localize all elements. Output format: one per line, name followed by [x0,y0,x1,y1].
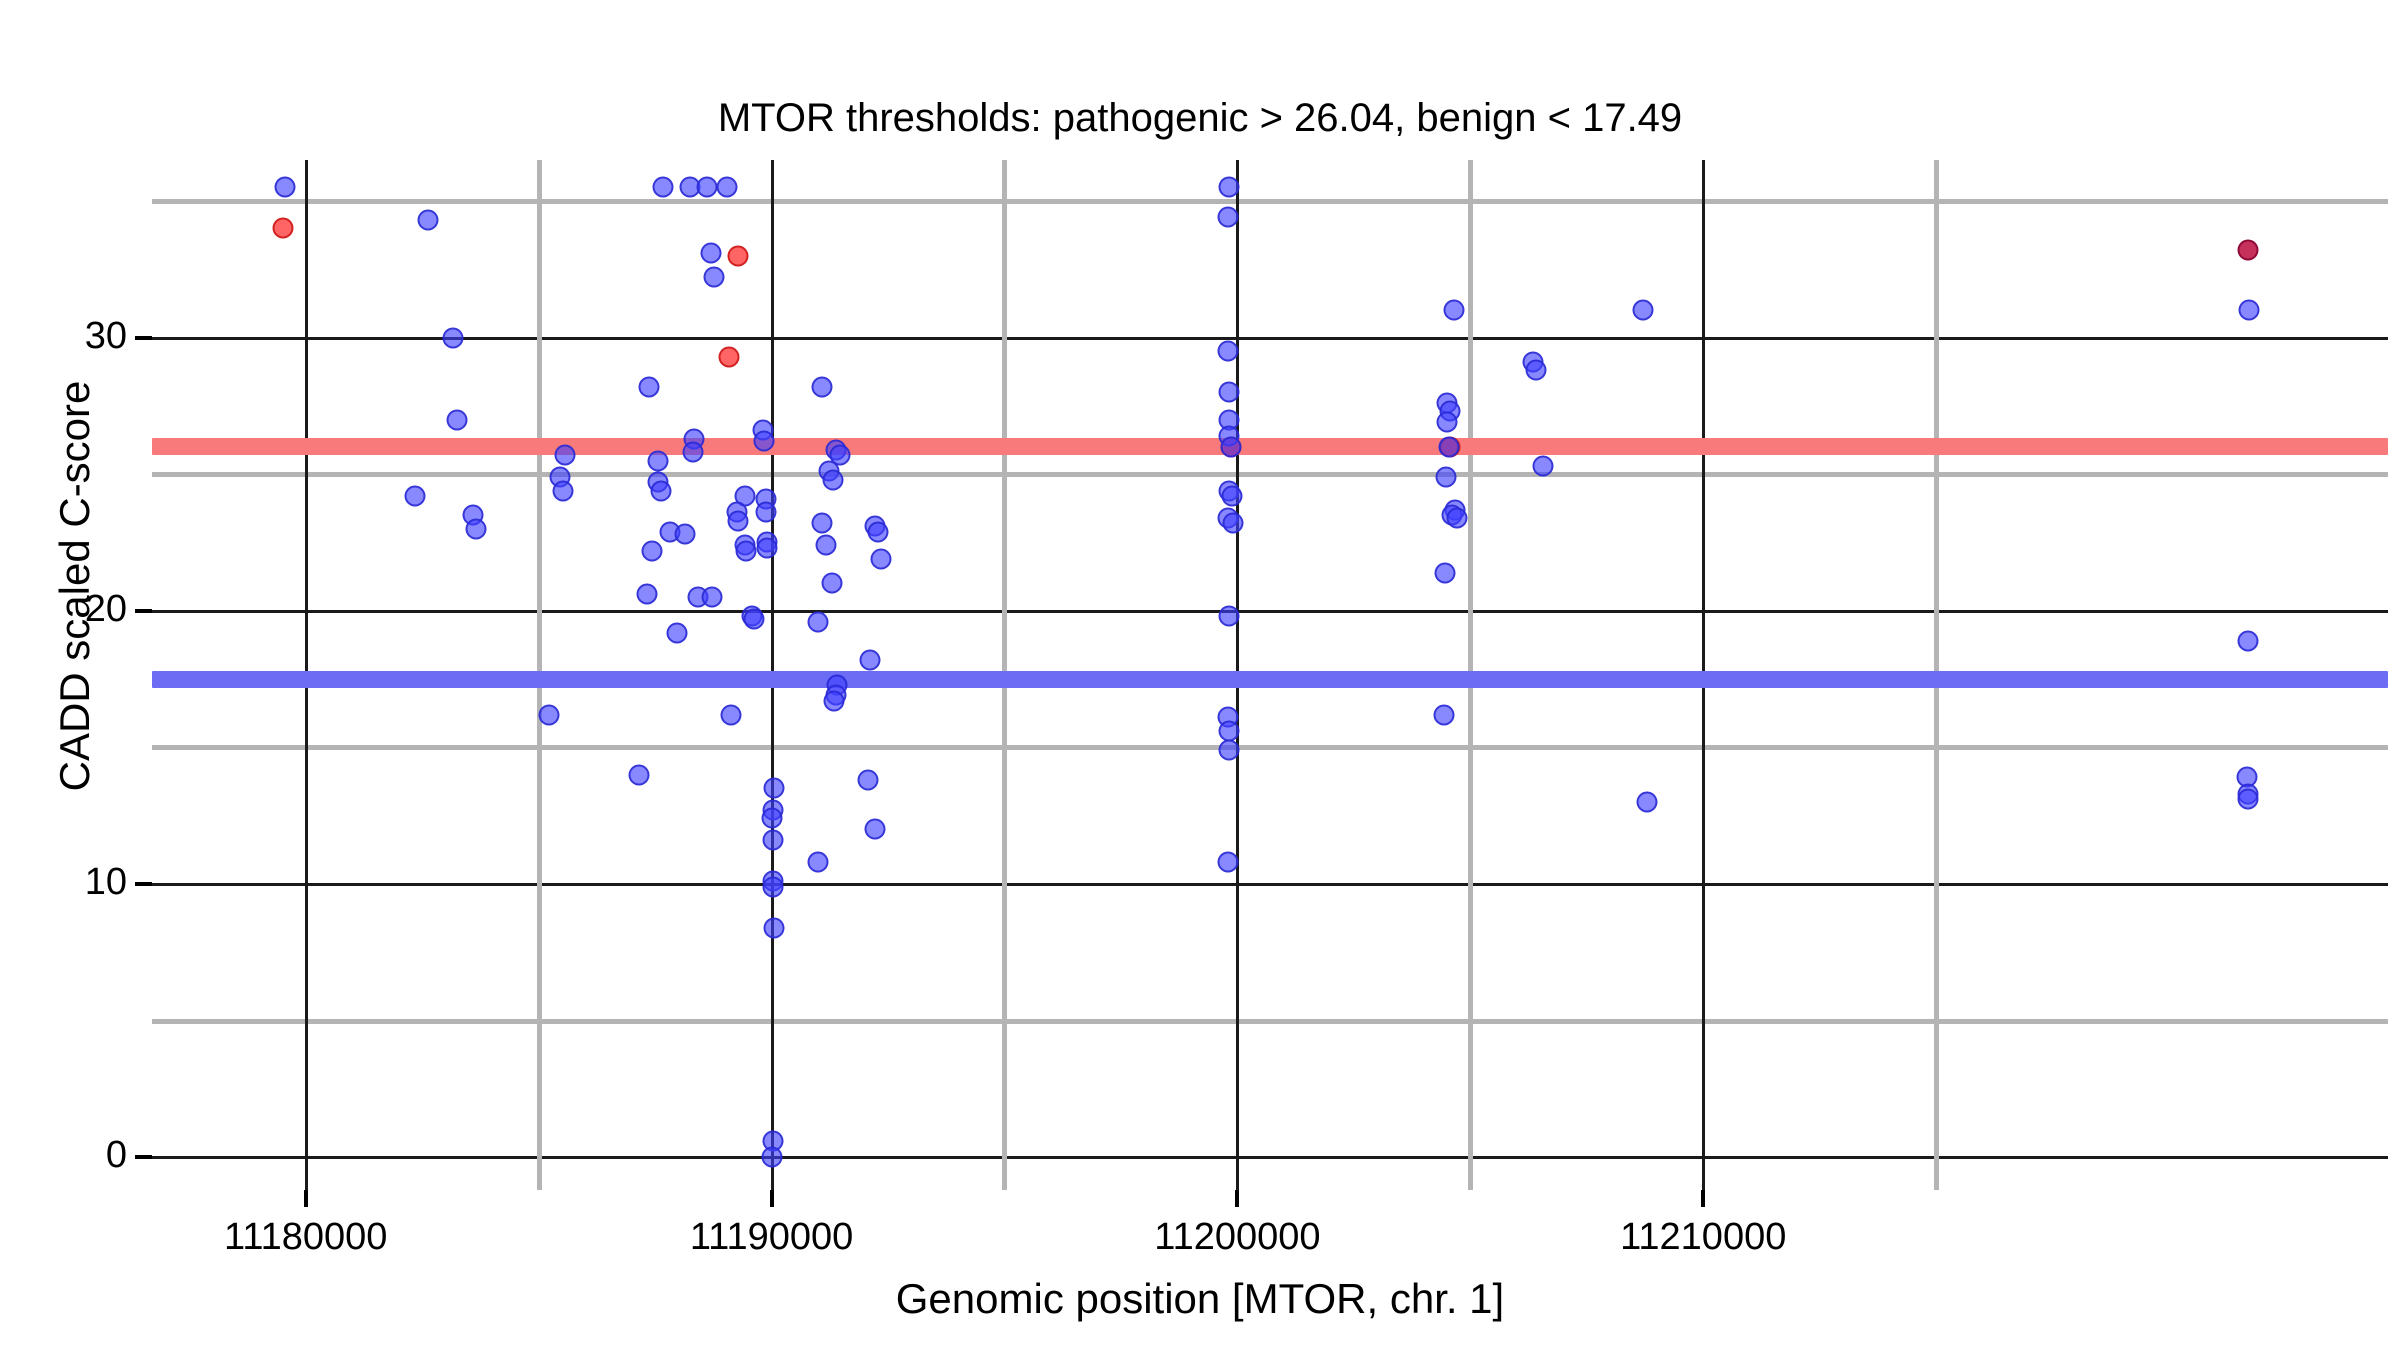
gridline-horizontal-minor [152,199,2388,204]
x-tick-label: 11210000 [1573,1216,1833,1259]
data-point-exac [743,608,764,629]
data-point-exac [762,808,783,829]
data-point-pathogenic [727,245,748,266]
threshold-line-pathogenic [152,438,2388,455]
x-tick-mark [304,1190,308,1207]
gridline-horizontal-minor [152,472,2388,477]
data-point-exac [1223,513,1244,534]
data-point-exac [642,540,663,561]
data-point-exac [1219,606,1240,627]
data-point-exac [755,502,776,523]
data-point-exac [1444,300,1465,321]
data-point-exac [552,480,573,501]
data-point-exac [639,376,660,397]
data-point-exac [442,327,463,348]
gridline-horizontal-major [152,883,2388,886]
data-point-exac [1435,466,1456,487]
gridline-horizontal-major [152,337,2388,340]
data-point-exac [446,409,467,430]
gridline-horizontal-major [152,1156,2388,1159]
x-tick-mark [770,1190,774,1207]
data-point-exac [764,917,785,938]
y-tick-mark [135,882,152,886]
y-axis-label: CADD scaled C-score [51,156,99,1016]
plot-area [152,160,2388,1190]
data-point-exac [860,649,881,670]
data-point-exac [1447,507,1468,528]
data-point-exac [762,830,783,851]
gridline-horizontal-minor [152,745,2388,750]
data-point-exac [675,524,696,545]
data-point-exac [466,518,487,539]
chart-title-line-1: MTOR thresholds: pathogenic > 26.04, ben… [0,96,2400,140]
data-point-exac [864,819,885,840]
data-point-exac [867,521,888,542]
data-point-exac [764,778,785,799]
data-point-exac [1637,792,1658,813]
data-point-exac [811,376,832,397]
data-point-exac [1218,341,1239,362]
data-point-exac [683,442,704,463]
data-point-exac [762,876,783,897]
x-tick-label: 11180000 [176,1216,436,1259]
data-point-pathogenic [718,346,739,367]
y-tick-label: 0 [106,1134,127,1177]
x-tick-label: 11190000 [642,1216,902,1259]
data-point-exac [870,548,891,569]
data-point-exac [1526,360,1547,381]
y-tick-mark [135,609,152,613]
data-point-exac [858,770,879,791]
data-point-exac [762,1147,783,1168]
y-tick-mark [135,1155,152,1159]
data-point-exac [812,513,833,534]
data-point-exac [807,611,828,632]
data-point-exac [2238,789,2259,810]
x-tick-mark [1701,1190,1705,1207]
data-point-exac [697,177,718,198]
data-point-exac [404,486,425,507]
data-point-exac [2238,630,2259,651]
data-point-exac [653,177,674,198]
data-point-exac [1217,207,1238,228]
data-point-exac [554,445,575,466]
y-tick-mark [135,336,152,340]
data-point-exac [1434,704,1455,725]
data-point-exac [2239,300,2260,321]
data-point-exac [667,622,688,643]
data-point-exac [1218,740,1239,761]
x-tick-label: 11200000 [1107,1216,1367,1259]
data-point-exac [808,852,829,873]
data-point-exac [651,480,672,501]
scatter-chart-figure: MTOR thresholds: pathogenic > 26.04, ben… [0,0,2400,1350]
data-point-exac [647,450,668,471]
data-point-exac [1532,455,1553,476]
data-point-exac [821,573,842,594]
data-point-exac [1218,852,1239,873]
data-point-exac [1439,436,1460,457]
data-point-exac [716,177,737,198]
data-point-exac [1434,562,1455,583]
data-point-exac [757,537,778,558]
data-point-exac [701,242,722,263]
data-point-exac [417,210,438,231]
threshold-line-benign [152,671,2388,688]
data-point-exac [721,704,742,725]
data-point-exac [538,704,559,725]
x-axis-label: Genomic position [MTOR, chr. 1] [0,1275,2400,1323]
data-point-pathogenic [2238,240,2259,261]
data-point-exac [701,587,722,608]
data-point-pathogenic [273,218,294,239]
data-point-exac [629,764,650,785]
data-point-exac [736,540,757,561]
gridline-horizontal-major [152,610,2388,613]
gridline-horizontal-minor [152,1019,2388,1024]
data-point-exac [703,267,724,288]
data-point-exac [275,177,296,198]
data-point-exac [1219,382,1240,403]
data-point-exac [1221,486,1242,507]
data-point-exac [1220,436,1241,457]
data-point-exac [823,469,844,490]
data-point-exac [1219,177,1240,198]
data-point-exac [636,584,657,605]
data-point-exac [1436,412,1457,433]
data-point-exac [753,431,774,452]
data-point-exac [1632,300,1653,321]
data-point-exac [823,690,844,711]
x-tick-mark [1235,1190,1239,1207]
data-point-exac [728,510,749,531]
data-point-exac [816,535,837,556]
data-point-exac [1219,721,1240,742]
